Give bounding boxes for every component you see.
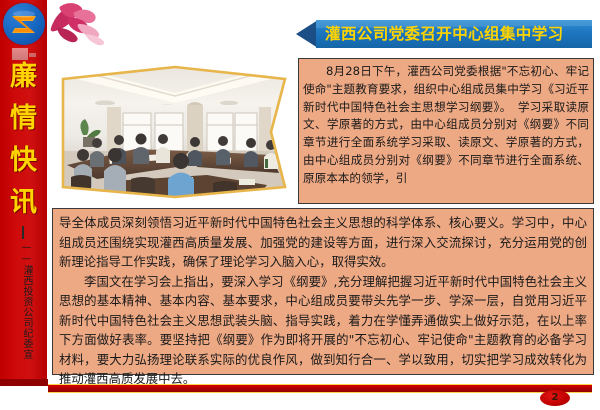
decorative-seal-icon [12,48,28,60]
masthead-char-4: 讯 [0,188,47,218]
article-title-banner: 灌西公司党委召开中心组集中学习 [296,18,592,50]
intro-text-box: 8月28日下午，灌西公司党委根据"不忘初心、牢记使命"主题教育要求，组织中心组成… [298,58,594,204]
footer-tail [0,379,48,386]
meeting-photo-image [57,63,290,201]
footer-rule [48,384,592,393]
masthead-banner: 廉 情 快 讯 ——灌西投资公司纪委宣 [0,0,47,383]
body-text-box: 导全体成员深刻领悟习近平新时代中国特色社会主义思想的科学体系、核心要义。学习中，… [52,208,594,375]
paragraph-intro: 8月28日下午，灌西公司党委根据"不忘初心、牢记使命"主题教育要求，组织中心组成… [303,63,589,188]
paragraph-body-2: 李国文在学习会上指出，要深入学习《纲要》,充分理解把握习近平新时代中国特色社会主… [59,272,587,389]
article-title: 灌西公司党委召开中心组集中学习 [325,18,587,50]
company-logo [3,3,45,45]
decorative-seal-accent-icon [29,53,36,57]
meeting-photo [57,63,290,201]
masthead-char-2: 情 [0,104,47,134]
newsletter-page: 廉 情 快 讯 ——灌西投资公司纪委宣 [0,0,600,410]
paragraph-body-1: 导全体成员深刻领悟习近平新时代中国特色社会主义思想的科学体系、核心要义。学习中，… [59,213,587,272]
logo-z-mark-icon [3,3,45,45]
magnolia-flower-icon [45,0,107,50]
publisher-line: ——灌西投资公司纪委宣 [16,242,32,360]
masthead-char-3: 快 [0,146,47,176]
page-number-badge: 2 [540,390,570,406]
masthead-divider [22,226,24,239]
masthead-char-1: 廉 [0,62,47,92]
